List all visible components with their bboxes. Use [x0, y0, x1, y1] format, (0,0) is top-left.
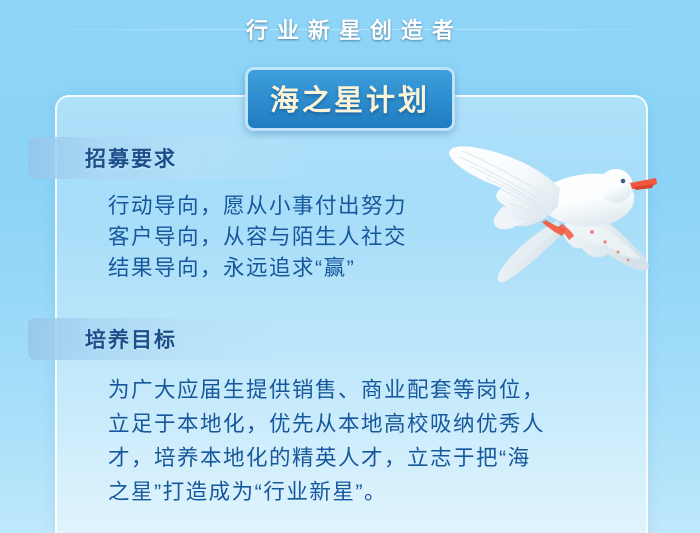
- title-badge: 海之星计划: [245, 67, 455, 131]
- section-header-training-goal: 培养目标: [28, 318, 313, 360]
- body-line: 才，培养本地化的精英人才，立志于把“海: [108, 441, 628, 475]
- body-line: 为广大应届生提供销售、商业配套等岗位，: [108, 373, 628, 407]
- poster-canvas: 行业新星创造者: [0, 0, 700, 533]
- section-body-recruitment: 行动导向，愿从小事付出努力 客户导向，从容与陌生人社交 结果导向，永远追求“赢”: [108, 191, 528, 284]
- section-header-label: 招募要求: [85, 143, 177, 173]
- section-body-training-goal: 为广大应届生提供销售、商业配套等岗位， 立足于本地化，优先从本地高校吸纳优秀人 …: [108, 373, 628, 509]
- section-header-label: 培养目标: [85, 324, 177, 354]
- banner-title: 行业新星创造者: [237, 13, 463, 45]
- top-banner: 行业新星创造者: [0, 5, 700, 52]
- body-line: 立足于本地化，优先从本地高校吸纳优秀人: [108, 407, 628, 441]
- body-line: 之星”打造成为“行业新星”。: [108, 475, 628, 509]
- body-line: 客户导向，从容与陌生人社交: [108, 222, 528, 253]
- body-line: 结果导向，永远追求“赢”: [108, 253, 528, 284]
- section-header-recruitment: 招募要求: [28, 137, 313, 179]
- body-line: 行动导向，愿从小事付出努力: [108, 191, 528, 222]
- title-badge-label: 海之星计划: [270, 85, 430, 117]
